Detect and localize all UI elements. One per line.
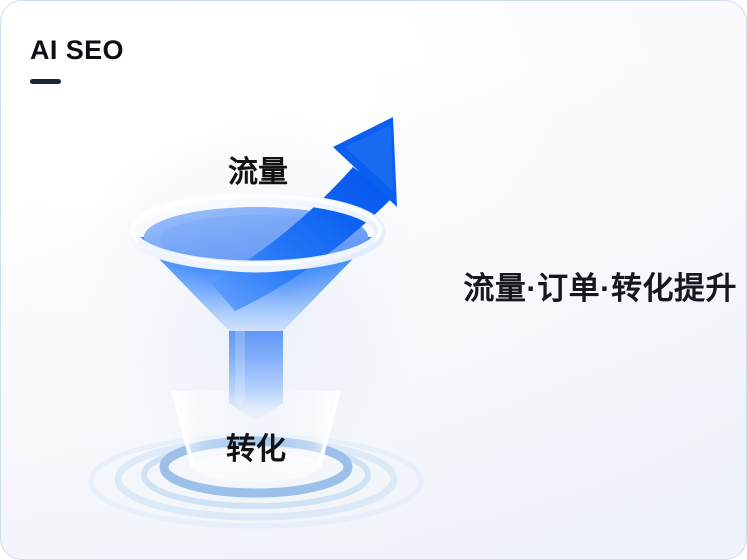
headline-text: 流量·订单·转化提升 (463, 273, 737, 304)
header: AI SEO (30, 37, 124, 84)
conversion-label: 转化 (226, 435, 286, 465)
title-underline-accent (30, 79, 61, 84)
funnel-stem (229, 319, 283, 421)
traffic-label: 流量 (228, 158, 288, 188)
funnel-stem-highlight (235, 321, 245, 409)
page-title: AI SEO (30, 37, 124, 64)
poster-card: AI SEO 流量·订单·转化提升 (0, 0, 747, 560)
